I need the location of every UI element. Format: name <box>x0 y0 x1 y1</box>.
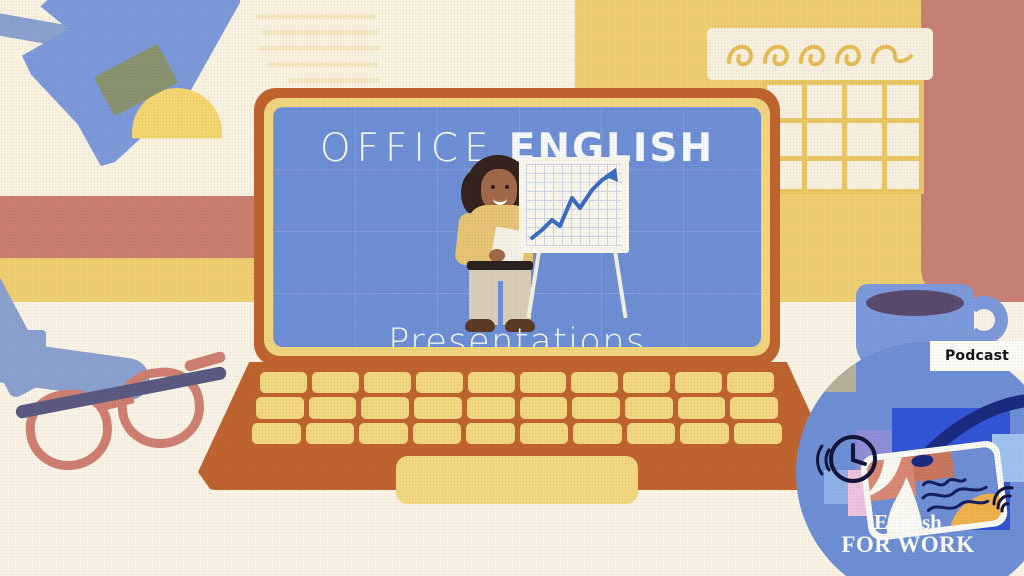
keyboard-key[interactable] <box>520 397 568 418</box>
keyboard-row <box>252 423 782 444</box>
wall-calendar-grid <box>762 80 924 194</box>
keyboard-key[interactable] <box>625 397 673 418</box>
laptop-screen[interactable]: OFFICEENGLISH <box>273 107 761 347</box>
flipchart-board <box>519 157 629 253</box>
keyboard-key[interactable] <box>306 423 355 444</box>
calendar-scribble-icon <box>725 38 915 72</box>
keyboard-key[interactable] <box>359 423 408 444</box>
growth-chart-line <box>526 164 622 246</box>
keyboard-key[interactable] <box>361 397 409 418</box>
keyboard-key[interactable] <box>364 372 411 393</box>
keyboard-key[interactable] <box>309 397 357 418</box>
keyboard-key[interactable] <box>520 423 569 444</box>
keyboard-key[interactable] <box>312 372 359 393</box>
laptop-bezel: OFFICEENGLISH <box>264 98 770 356</box>
keyboard-key[interactable] <box>623 372 670 393</box>
podcast-title: English FOR WORK <box>796 512 1020 557</box>
keyboard-key[interactable] <box>416 372 463 393</box>
coffee-surface <box>866 290 964 316</box>
keyboard-key[interactable] <box>413 423 462 444</box>
shelf-line <box>256 14 376 19</box>
keyboard-key[interactable] <box>727 372 774 393</box>
keyboard-key[interactable] <box>520 372 567 393</box>
keyboard-key[interactable] <box>734 423 783 444</box>
shelf-line <box>288 78 380 83</box>
keyboard-key[interactable] <box>414 397 462 418</box>
podcast-badge[interactable]: Podcast <box>930 341 1024 371</box>
shelf-line <box>262 30 378 35</box>
podcast-title-line2: FOR WORK <box>796 533 1020 556</box>
keyboard-key[interactable] <box>466 423 515 444</box>
shelf-line <box>258 46 380 51</box>
laptop-keyboard[interactable] <box>252 372 782 444</box>
presenter-belt <box>467 261 533 270</box>
presenter-leg-gap <box>498 281 503 325</box>
keyboard-key[interactable] <box>256 397 304 418</box>
keyboard-key[interactable] <box>730 397 778 418</box>
keyboard-key[interactable] <box>571 372 618 393</box>
presenter-eye-left <box>491 185 495 189</box>
keyboard-key[interactable] <box>252 423 301 444</box>
podcast-artwork-circle[interactable]: English FOR WORK <box>796 342 1024 576</box>
laptop-lid: OFFICEENGLISH <box>254 88 780 366</box>
keyboard-key[interactable] <box>627 423 676 444</box>
laptop-trackpad[interactable] <box>396 456 638 504</box>
keyboard-key[interactable] <box>468 372 515 393</box>
keyboard-key[interactable] <box>680 423 729 444</box>
keyboard-key[interactable] <box>675 372 722 393</box>
keyboard-key[interactable] <box>467 397 515 418</box>
keyboard-key[interactable] <box>678 397 726 418</box>
keyboard-key[interactable] <box>260 372 307 393</box>
podcast-title-line1: English <box>796 512 1020 533</box>
wall-rose-strip <box>921 0 1024 196</box>
keyboard-key[interactable] <box>573 423 622 444</box>
shelf-line <box>266 62 378 67</box>
illustration-canvas: OFFICEENGLISH <box>0 0 1024 576</box>
keyboard-row <box>252 397 782 418</box>
presenter-eye-right <box>505 185 509 189</box>
keyboard-row <box>252 372 782 393</box>
keyboard-key[interactable] <box>572 397 620 418</box>
screen-subtitle: Presentations <box>273 322 761 347</box>
